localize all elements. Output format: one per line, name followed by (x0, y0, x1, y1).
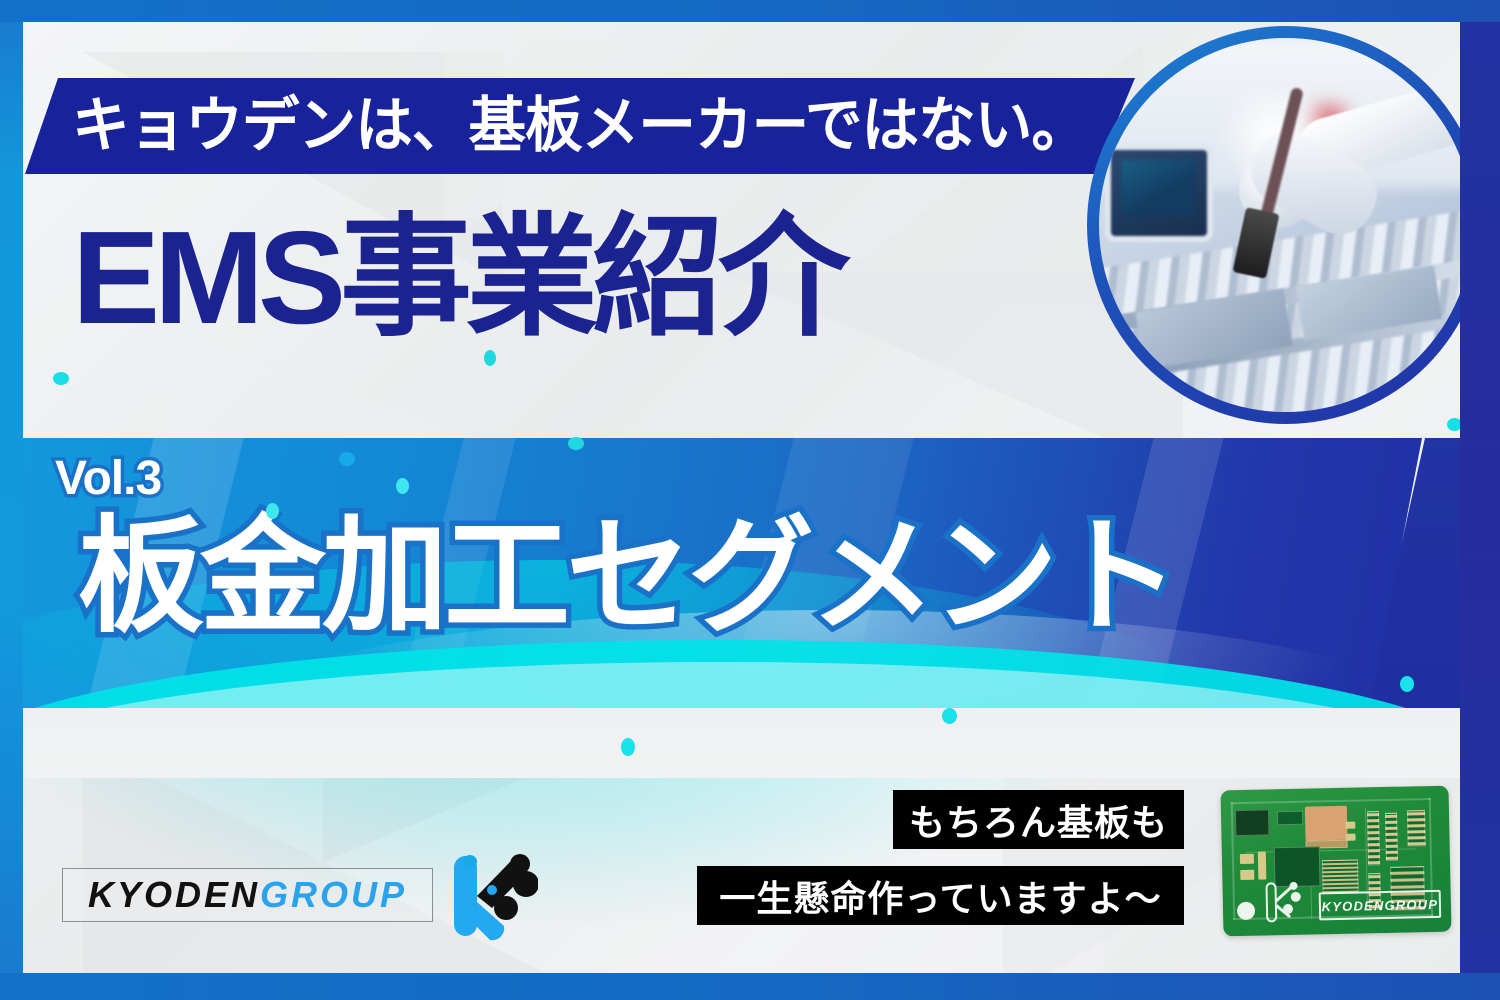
page-title: EMS事業紹介 (72, 212, 844, 344)
logo-name-primary: KYODEN (88, 874, 260, 915)
decor-dot (1400, 676, 1414, 692)
headline-banner-text: キョウデンは、基板メーカーではない。 (72, 96, 1088, 156)
headline-banner: キョウデンは、基板メーカーではない。 (0, 78, 1135, 174)
frame-right-border (1460, 0, 1500, 1000)
decor-dot (339, 452, 355, 466)
caption-chip-2: 一生懸命作っていますよ〜 (697, 866, 1184, 925)
caption-chip-1: もちろん基板も (893, 790, 1184, 849)
hero-photo: robotic-arm-production-line (1099, 38, 1473, 412)
band-bottom-mask (0, 708, 1500, 778)
decor-dot (463, 855, 477, 868)
decor-dot (942, 708, 957, 724)
decor-dot (53, 372, 69, 385)
pcb-k-logo-mark-icon (1262, 879, 1303, 926)
kyoden-group-logo: KYODENGROUP (62, 868, 433, 922)
decor-dot (396, 478, 409, 494)
decor-dot (484, 350, 496, 366)
decor-dot (568, 437, 584, 450)
logo-name-secondary: GROUP (260, 874, 407, 915)
caption-chip-1-text: もちろん基板も (909, 794, 1168, 846)
volume-label: Vol.3 (55, 455, 161, 503)
caption-chip-2-text: 一生懸命作っていますよ〜 (719, 870, 1161, 922)
frame-bottom-border (0, 973, 1500, 1000)
kyoden-group-logo-text: KYODENGROUP (88, 877, 407, 913)
segment-title: 板金加工セグメント (78, 505, 1176, 650)
decor-dot (621, 738, 635, 756)
pcb-board: KYODENGROUP (1220, 786, 1451, 937)
frame-top-border (0, 0, 1500, 22)
hero-photo-ring: robotic-arm-production-line (1087, 26, 1485, 424)
pcb-silkscreen-text: KYODENGROUP (1319, 890, 1442, 921)
frame-left-border (0, 0, 23, 1000)
decor-dot (266, 503, 279, 519)
poster-canvas: キョウデンは、基板メーカーではない。 EMS事業紹介 robotic-arm-p… (0, 0, 1500, 1000)
